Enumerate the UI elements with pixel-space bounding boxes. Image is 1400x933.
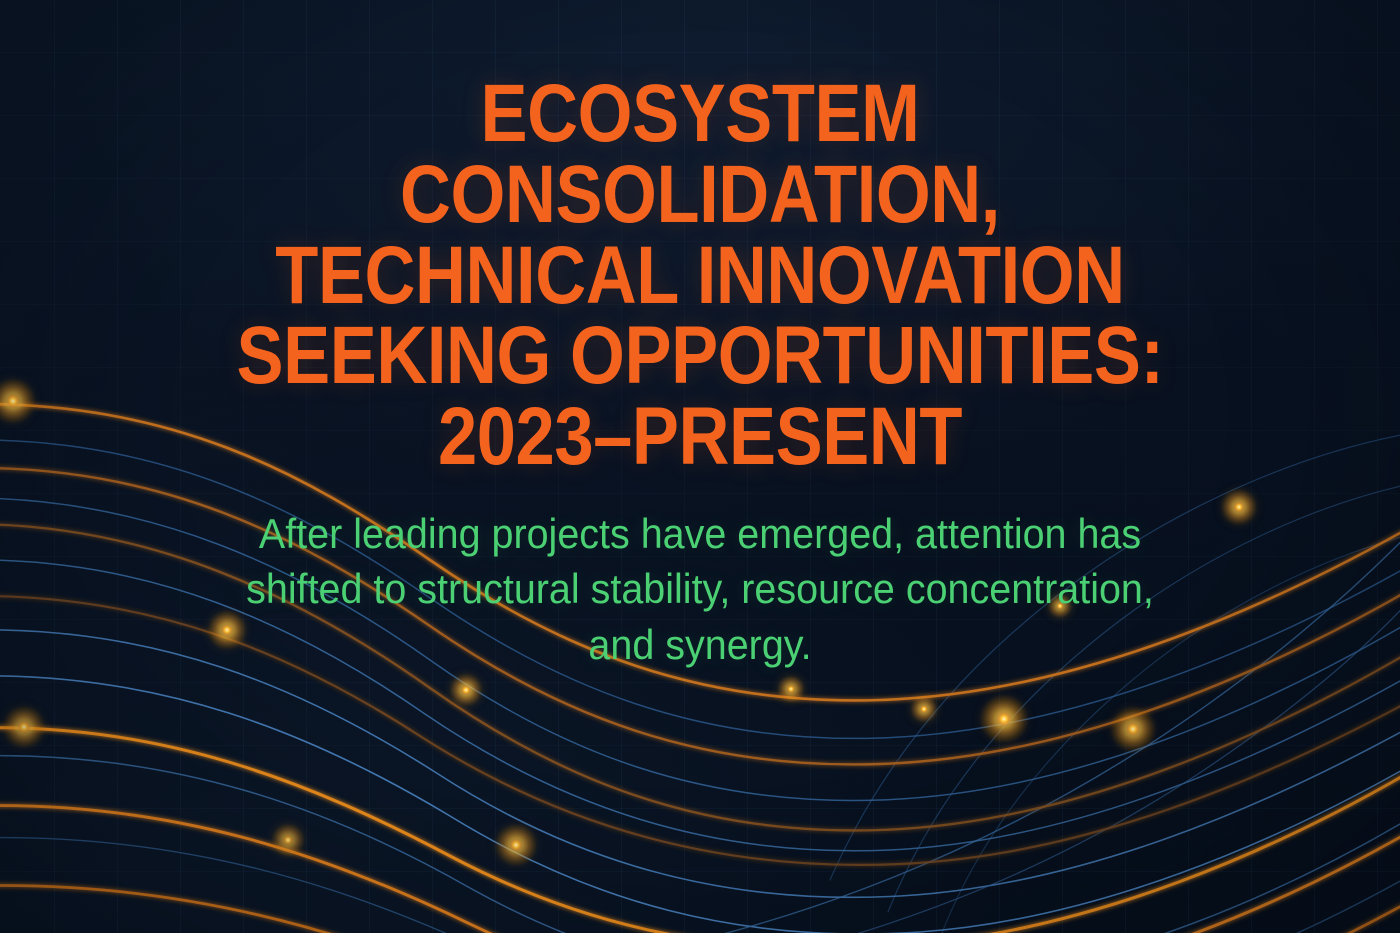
page-title: Ecosystem Consolidation, Technical Innov…: [218, 74, 1181, 478]
slide-canvas: Ecosystem Consolidation, Technical Innov…: [0, 0, 1400, 933]
slide-content: Ecosystem Consolidation, Technical Innov…: [0, 0, 1400, 933]
page-subtitle: After leading projects have emerged, att…: [221, 506, 1180, 672]
